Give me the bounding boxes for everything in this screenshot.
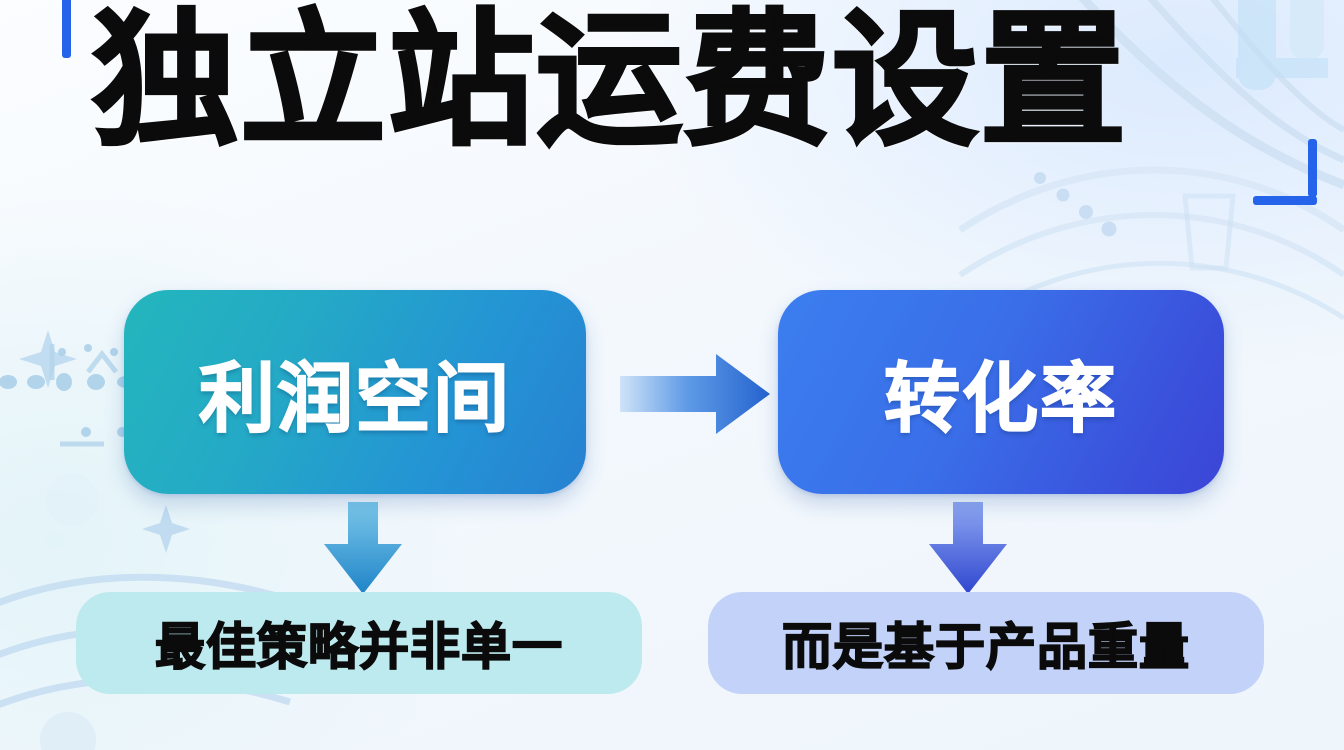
arrow-down-right-icon xyxy=(929,502,1007,594)
concept-pill-conversion-rate: 转化率 xyxy=(778,290,1224,494)
corner-bracket-bottom-right xyxy=(1247,139,1317,205)
bracket-horizontal-bar xyxy=(1253,196,1317,205)
arrow-right-icon xyxy=(620,354,770,434)
card-right-headline: 而是基于产品重量 xyxy=(708,592,1264,694)
bracket-vertical-bar xyxy=(62,0,71,58)
bracket-vertical-bar xyxy=(1308,139,1317,197)
card-right: 实时运费 而是基于产品重量 xyxy=(708,592,1264,750)
poster-canvas: 独立站运费设置 利润空间 转化率 全场包邮 最佳策略并非单一 实时运费 而是基于… xyxy=(0,0,1344,750)
page-title: 独立站运费设置 xyxy=(92,0,1128,166)
arrow-down-left-icon xyxy=(324,502,402,594)
card-left: 全场包邮 最佳策略并非单一 xyxy=(76,592,642,750)
concept-pill-profit-margin: 利润空间 xyxy=(124,290,586,494)
card-left-headline: 最佳策略并非单一 xyxy=(76,592,642,694)
